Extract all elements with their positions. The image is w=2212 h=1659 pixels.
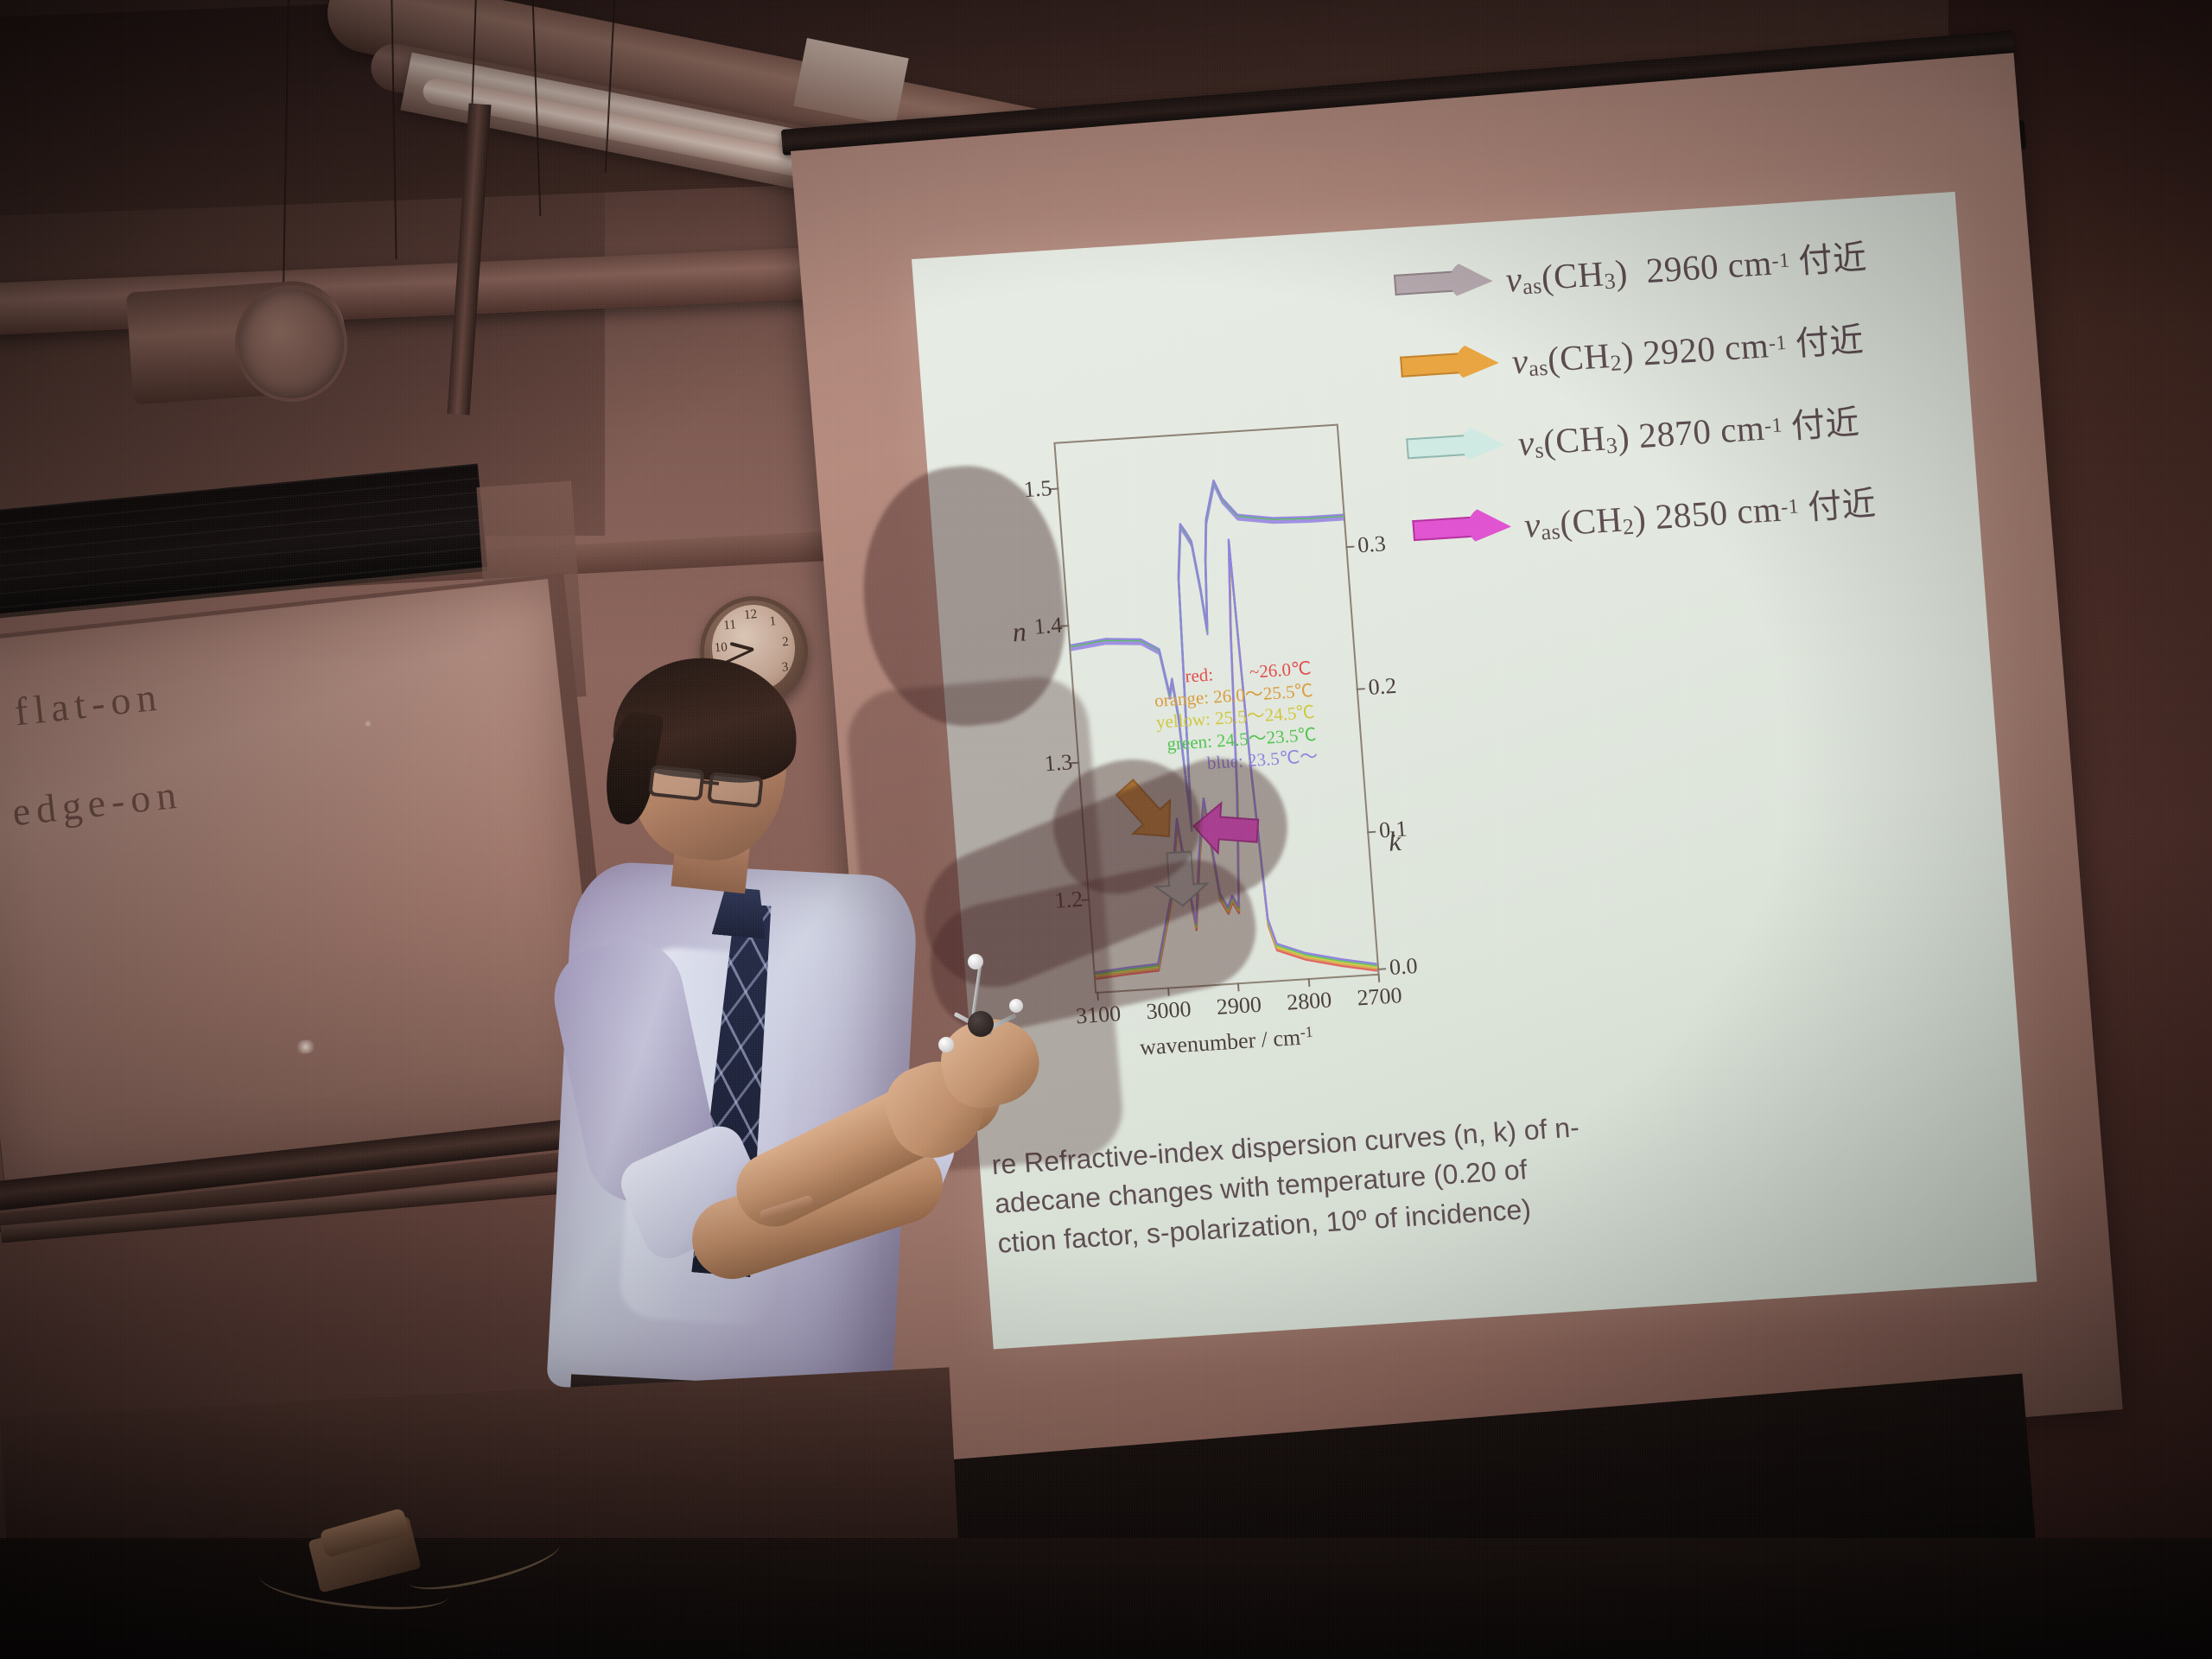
clock-numeral-1: 1 [769,614,777,630]
arrow-gray-icon [1393,258,1495,304]
whiteboard-text-edge-on: edge-on [10,771,185,835]
legend-label-2960: νas(CH3) 2960 cm-1付近 [1503,230,1868,302]
chart-ytick-right-2: 0.1 [1378,816,1408,843]
carbon-atom [968,1011,994,1037]
chart-x-axis-label: wavenumber / cm-1 [1139,1023,1314,1061]
chart-xtick-1: 3000 [1145,996,1192,1025]
clock-numeral-11: 11 [723,618,737,633]
legend-label-2850: νas(CH2) 2850 cm-1付近 [1522,476,1878,547]
chart-ytick-right-0: 0.3 [1357,531,1387,558]
whiteboard-glare [294,1039,318,1055]
clock-numeral-10: 10 [714,640,728,656]
chart-ytick-right-3: 0.0 [1389,953,1419,981]
glasses-left-lens [648,765,704,801]
legend-label-2870: νs(CH3) 2870 cm-1付近 [1516,395,1861,465]
clock-numeral-12: 12 [743,607,757,623]
lecture-room-photo: flat-on edge-on 12 11 10 1 2 3 [0,0,2212,1659]
whiteboard-text-flat-on: flat-on [12,673,164,734]
molecular-model[interactable] [907,942,1080,1115]
hydrogen-atom [968,954,983,969]
hydrogen-atom [938,1037,954,1052]
chart-ytick-right-1: 0.2 [1368,673,1398,701]
legend-label-2920: νas(CH2) 2920 cm-1付近 [1510,313,1866,384]
whiteboard-marker-dot [363,720,372,728]
chart-xtick-3: 2800 [1286,987,1332,1015]
whiteboard: flat-on edge-on [0,579,607,1185]
slide-legend-list: νas(CH3) 2960 cm-1付近 νas(CH2) 2920 cm-1付… [1391,207,1976,571]
arrow-orange-icon [1399,340,1501,386]
clock-numeral-2: 2 [782,635,790,651]
chart-xtick-2: 2900 [1216,992,1262,1020]
arrow-magenta-icon [1411,504,1513,550]
hydrogen-atom [1009,999,1023,1013]
glasses-right-lens [707,772,763,808]
arrow-teal-outline-icon [1405,423,1507,468]
chart-xtick-4: 2700 [1356,982,1402,1011]
